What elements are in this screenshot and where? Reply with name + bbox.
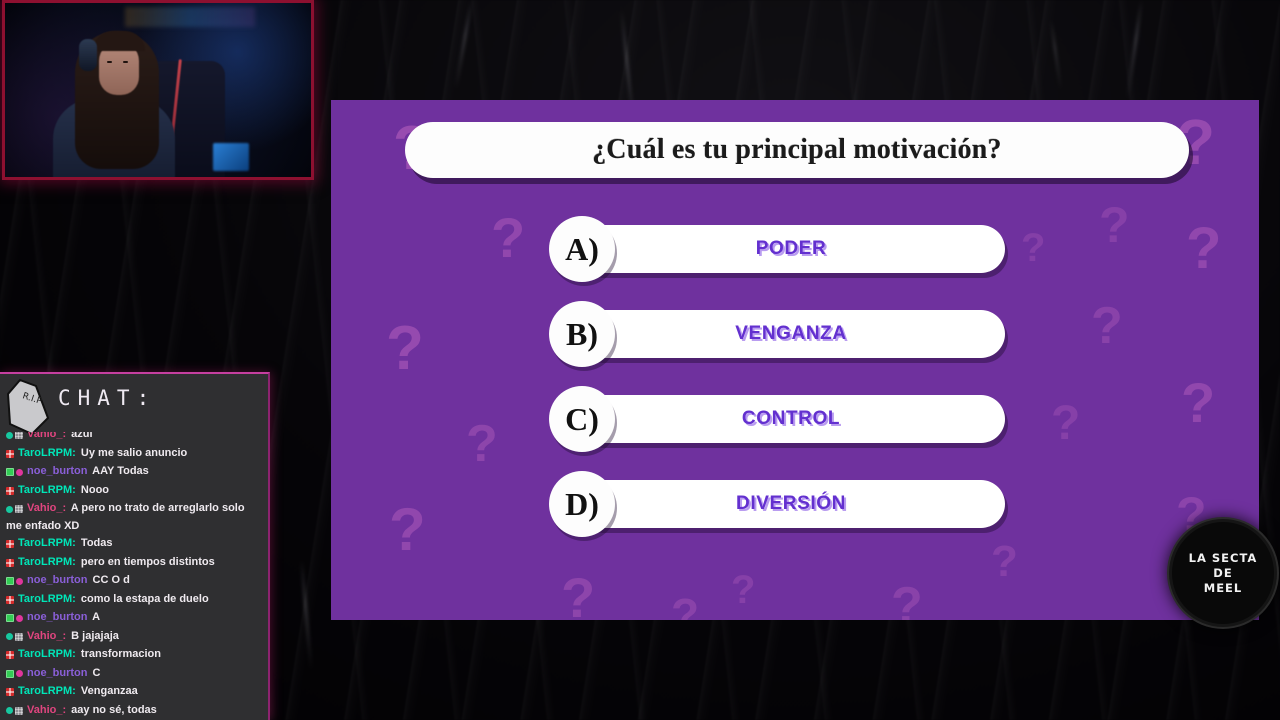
quiz-option-b-label: VENGANZA — [735, 323, 846, 345]
question-mark-icon: ? — [1051, 400, 1080, 448]
question-mark-icon: ? — [389, 500, 426, 560]
logo-line-2: DE — [1213, 566, 1232, 580]
chat-message-text: Todas — [78, 537, 113, 549]
quiz-option-c-letter: C) — [549, 386, 615, 452]
chat-badge-gray-box-icon — [15, 432, 23, 439]
question-mark-icon: ? — [731, 570, 755, 610]
question-mark-icon: ? — [1186, 220, 1221, 278]
chat-message: TaroLRPM: como la estapa de duelo — [4, 590, 264, 609]
quiz-option-d-letter: D) — [549, 471, 615, 537]
chat-username[interactable]: Vahio_: — [27, 502, 66, 514]
quiz-option-a[interactable]: PODER A) — [549, 225, 1005, 273]
quiz-question-pill: ¿Cuál es tu principal motivación? — [405, 122, 1189, 178]
question-mark-icon: ? — [1099, 200, 1130, 250]
stream-overlay-screen: R.I.P CHAT: TaroLRPM ☠ ☠Vahio_: azulTaro… — [0, 0, 1280, 720]
chat-badges — [6, 446, 16, 463]
secta-logo-badge: LA SECTA DE MEEL — [1172, 522, 1274, 624]
quiz-question-text: ¿Cuál es tu principal motivación? — [592, 134, 1002, 166]
webcam-shelf — [125, 7, 255, 27]
webcam-feed — [2, 0, 314, 180]
chat-badge-sq-red-icon — [6, 596, 14, 604]
chat-username[interactable]: noe_burton — [27, 574, 88, 586]
chat-badge-sq-green-icon — [6, 468, 14, 476]
logo-line-3: MEEL — [1204, 581, 1242, 595]
quiz-option-b-pill[interactable]: VENGANZA — [577, 310, 1005, 358]
question-mark-icon: ? — [1091, 300, 1123, 352]
chat-badges — [6, 555, 16, 572]
chat-title: CHAT: — [58, 386, 156, 410]
webcam-eye-right — [123, 61, 128, 63]
webcam-eye-left — [107, 61, 112, 63]
chat-username[interactable]: TaroLRPM: — [18, 537, 76, 549]
quiz-option-d[interactable]: DIVERSIÓN D) — [549, 480, 1005, 528]
chat-message-text: como la estapa de duelo — [78, 593, 209, 605]
chat-message-text: AAY Todas — [90, 465, 149, 477]
chat-message: Vahio_: azul — [4, 432, 264, 444]
question-mark-icon: ? — [466, 418, 498, 470]
chat-message: TaroLRPM: pero en tiempos distintos — [4, 553, 264, 572]
chat-badge-dot-teal-icon — [6, 432, 13, 439]
chat-badge-sq-red-icon — [6, 559, 14, 567]
quiz-option-c-label: CONTROL — [742, 408, 840, 430]
logo-line-1: LA SECTA — [1189, 551, 1258, 565]
webcam-monitor-glow — [213, 143, 249, 171]
chat-badges — [6, 592, 16, 609]
chat-badges — [6, 536, 16, 553]
chat-username[interactable]: TaroLRPM: — [18, 484, 76, 496]
question-mark-icon: ? — [1021, 228, 1045, 268]
question-mark-icon: ? — [891, 580, 923, 620]
chat-username[interactable]: Vahio_: — [27, 432, 66, 440]
chat-username[interactable]: TaroLRPM: — [18, 593, 76, 605]
chat-message: TaroLRPM: Nooo — [4, 481, 264, 500]
question-mark-icon: ? — [491, 210, 525, 266]
quiz-option-a-letter: A) — [549, 216, 615, 282]
question-mark-icon: ? — [1181, 375, 1215, 431]
webcam-headset — [79, 39, 97, 71]
chat-message: noe_burton AAY Todas — [4, 463, 264, 482]
question-mark-icon: ? — [671, 592, 699, 620]
chat-badge-dot-teal-icon — [6, 506, 13, 513]
chat-badge-sq-red-icon — [6, 487, 14, 495]
question-mark-icon: ? — [386, 318, 424, 380]
quiz-option-a-pill[interactable]: PODER — [577, 225, 1005, 273]
chat-badge-sq-red-icon — [6, 450, 14, 458]
quiz-option-d-label: DIVERSIÓN — [736, 493, 846, 515]
quiz-option-d-pill[interactable]: DIVERSIÓN — [577, 480, 1005, 528]
quiz-option-b[interactable]: VENGANZA B) — [549, 310, 1005, 358]
chat-username[interactable]: TaroLRPM: — [18, 556, 76, 568]
chat-badge-gray-box-icon — [15, 505, 23, 513]
bottom-bar: darimtz04 Juego Outlast: 6 / 50 (12%)Jue… — [0, 620, 1280, 720]
chat-badges — [6, 464, 25, 481]
chat-message-text: Uy me salio anuncio — [78, 447, 187, 459]
chat-username[interactable]: TaroLRPM: — [18, 447, 76, 459]
chat-badge-dot-pink-icon — [16, 578, 23, 585]
chat-message-text: Nooo — [78, 484, 109, 496]
chat-message-text: CC O d — [90, 574, 130, 586]
chat-username[interactable]: noe_burton — [27, 465, 88, 477]
chat-badge-sq-green-icon — [6, 577, 14, 585]
chat-message-text: azul — [68, 432, 92, 440]
chat-message-text: pero en tiempos distintos — [78, 556, 215, 568]
chat-message: TaroLRPM: Todas — [4, 535, 264, 554]
chat-badges — [6, 501, 25, 518]
chat-header: R.I.P CHAT: — [0, 374, 268, 432]
chat-badge-sq-red-icon — [6, 540, 14, 548]
quiz-option-c[interactable]: CONTROL C) — [549, 395, 1005, 443]
coffin-rip-icon: R.I.P — [6, 378, 50, 436]
question-mark-icon: ? — [561, 570, 595, 620]
quiz-panel: ?????????????????????? ¿Cuál es tu princ… — [331, 100, 1259, 620]
quiz-option-a-label: PODER — [756, 238, 827, 260]
quiz-option-b-letter: B) — [549, 301, 615, 367]
quiz-option-c-pill[interactable]: CONTROL — [577, 395, 1005, 443]
chat-badges — [6, 573, 25, 590]
chat-badges — [6, 432, 25, 444]
chat-badge-dot-pink-icon — [16, 469, 23, 476]
chat-message: Vahio_: A pero no trato de arreglarlo so… — [4, 500, 264, 535]
chat-badges — [6, 483, 16, 500]
question-mark-icon: ? — [991, 540, 1018, 584]
chat-message: TaroLRPM: Uy me salio anuncio — [4, 444, 264, 463]
chat-message: noe_burton CC O d — [4, 572, 264, 591]
